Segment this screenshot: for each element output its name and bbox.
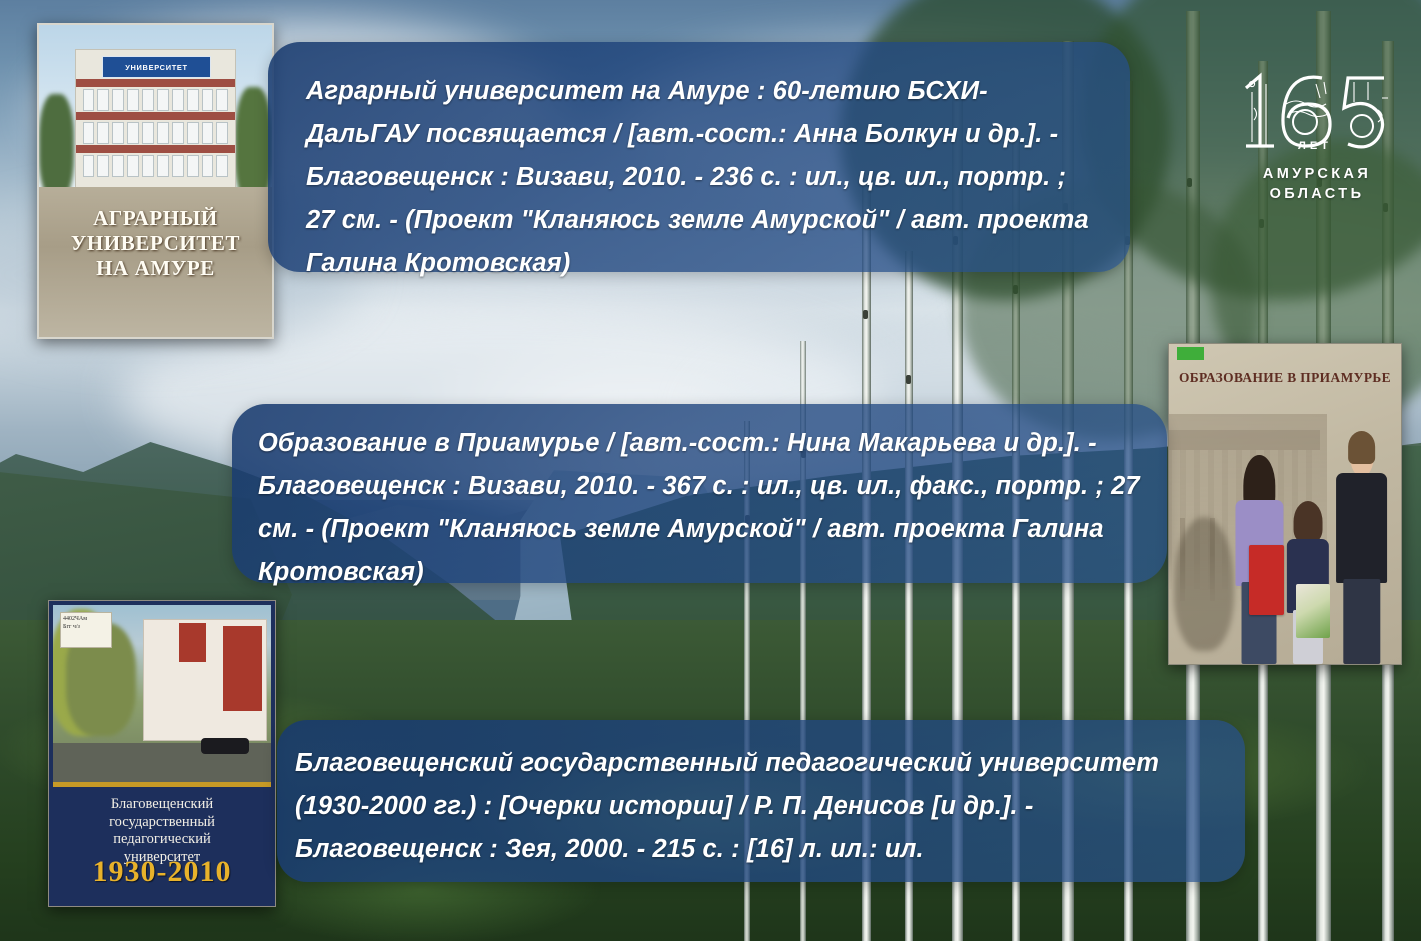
book-cover-education-priamurye[interactable]: ОБРАЗОВАНИЕ В ПРИАМУРЬЕ [1168, 343, 1402, 665]
window-row [83, 122, 229, 142]
etch-roof [1168, 430, 1320, 450]
red-folder [1249, 545, 1284, 615]
student-boy [1331, 434, 1391, 664]
book-title-education: ОБРАЗОВАНИЕ В ПРИАМУРЬЕ [1169, 370, 1401, 386]
book-title-agrarian: АГРАРНЫЙ УНИВЕРСИТЕТ НА АМУРЕ [39, 206, 272, 281]
book-title-line: Благовещенский [49, 796, 275, 814]
etch-tree [1174, 517, 1234, 651]
student-hair [1348, 431, 1376, 463]
book-cover-bgpu[interactable]: 4402ЧАм Бгг ч/з Благовещенский государст… [48, 600, 276, 907]
student-girl-child [1280, 504, 1336, 664]
logo-caption: АМУРСКАЯ ОБЛАСТЬ [1232, 164, 1402, 204]
brick-band [76, 112, 234, 121]
anniversary-logo-165-amur-region: ЛЕТ АМУРСКАЯ ОБЛАСТЬ [1232, 58, 1402, 218]
logo-years-word: ЛЕТ [1298, 140, 1332, 152]
citation-text: Образование в Приамурье / [авт.-сост.: Н… [258, 422, 1147, 594]
book-years-range: 1930-2010 [49, 855, 275, 889]
cover-tree [39, 94, 74, 200]
citation-panel-bgpu: Благовещенский государственный педагогич… [277, 720, 1245, 882]
citation-panel-agrarian-university: Аграрный университет на Амуре : 60-летию… [268, 42, 1130, 272]
citation-panel-education-priamurye: Образование в Приамурье / [авт.-сост.: Н… [232, 404, 1167, 583]
book-title-line: государственный [49, 814, 275, 832]
cover-photo-bgpu: 4402ЧАм Бгг ч/з [53, 605, 271, 782]
building-red-accent [223, 626, 262, 711]
book-title-line: педагогический [49, 831, 275, 849]
brick-band [76, 145, 234, 154]
window-row [83, 155, 229, 175]
logo-numeral-165: ЛЕТ [1232, 58, 1398, 158]
book-cover-agrarian-university[interactable]: УНИВЕРСИТЕТ АГРАРНЫЙ УНИВЕРСИТЕТ НА АМУР… [37, 23, 274, 339]
university-sign-label: УНИВЕРСИТЕТ [102, 56, 211, 78]
logo-caption-line: ОБЛАСТЬ [1232, 184, 1402, 204]
book-title-line: УНИВЕРСИТЕТ [39, 231, 272, 256]
citation-text: Благовещенский государственный педагогич… [295, 742, 1227, 871]
brick-band [76, 79, 234, 88]
citation-text: Аграрный университет на Амуре : 60-летию… [306, 70, 1100, 285]
parked-car [201, 738, 249, 754]
gold-divider [53, 782, 271, 787]
logo-caption-line: АМУРСКАЯ [1232, 164, 1402, 184]
student-torso [1336, 473, 1388, 584]
textbook [1296, 584, 1331, 638]
library-sticker [1177, 347, 1204, 360]
slide-canvas: УНИВЕРСИТЕТ АГРАРНЫЙ УНИВЕРСИТЕТ НА АМУР… [0, 0, 1421, 941]
student-hair [1294, 501, 1323, 543]
window-row [83, 89, 229, 109]
book-title-line: НА АМУРЕ [39, 256, 272, 281]
shelf-mark-label: 4402ЧАм Бгг ч/з [60, 612, 112, 648]
student-legs [1343, 579, 1380, 664]
building-red-accent [179, 623, 205, 662]
book-title-line: АГРАРНЫЙ [39, 206, 272, 231]
